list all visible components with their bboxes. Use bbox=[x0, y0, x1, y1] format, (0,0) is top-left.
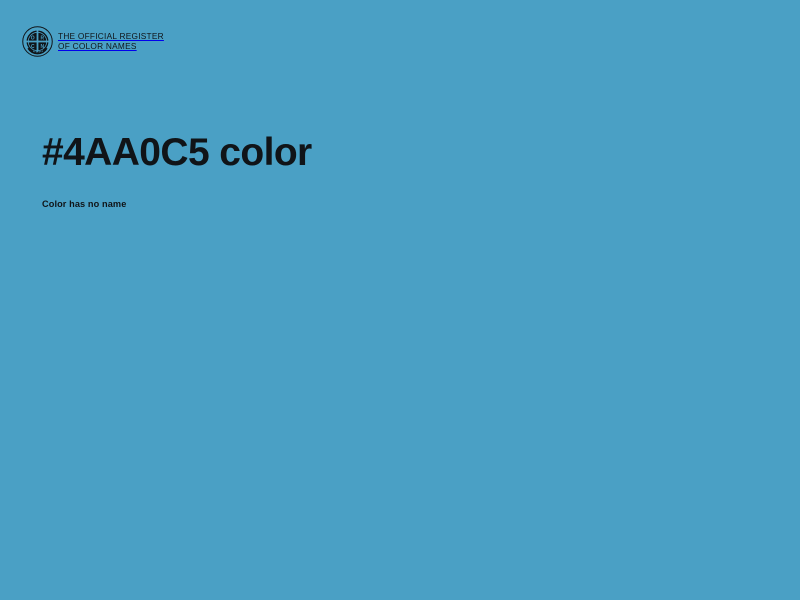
color-page: O R C N THE OFFICIAL REGISTER OF COLOR N… bbox=[0, 0, 800, 600]
svg-text:R: R bbox=[40, 35, 44, 41]
svg-text:C: C bbox=[31, 44, 35, 50]
color-name-status: Color has no name bbox=[42, 198, 126, 210]
brand-wordmark-line-2: OF COLOR NAMES bbox=[58, 42, 164, 52]
page-title: #4AA0C5 color bbox=[42, 130, 312, 176]
brand-lockup[interactable]: O R C N THE OFFICIAL REGISTER OF COLOR N… bbox=[22, 26, 164, 57]
official-register-seal-icon: O R C N bbox=[22, 26, 53, 57]
svg-text:O: O bbox=[31, 35, 35, 41]
svg-text:N: N bbox=[40, 44, 44, 50]
brand-wordmark: THE OFFICIAL REGISTER OF COLOR NAMES bbox=[58, 31, 164, 51]
